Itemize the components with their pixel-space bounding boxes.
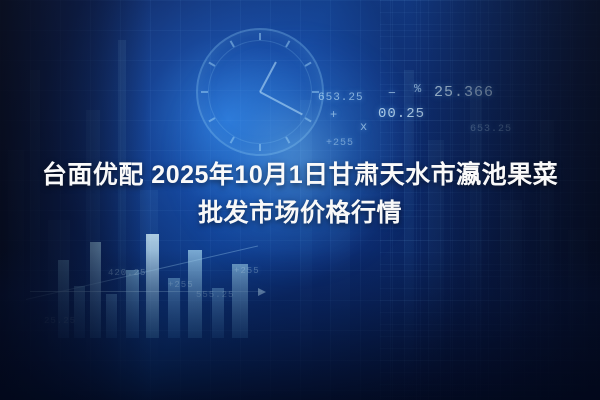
analog-clock-icon <box>196 28 324 156</box>
hud-number: +255 <box>326 138 354 149</box>
banner-image: 653.25 − % 25.366 + 00.25 x +255 653.25 … <box>0 0 600 400</box>
title-line-2: 批发市场价格行情 <box>198 199 402 227</box>
page-title: 台面优配 2025年10月1日甘肃天水市瀛池果菜 批发市场价格行情 <box>18 156 582 232</box>
hud-number: x <box>360 120 368 134</box>
hud-number: 653.25 <box>318 92 364 104</box>
hud-number: + <box>330 108 338 122</box>
vignette-bottom <box>0 250 600 400</box>
title-line-1: 台面优配 2025年10月1日甘肃天水市瀛池果菜 <box>42 161 558 189</box>
hud-number: − <box>388 86 397 101</box>
title-block: 台面优配 2025年10月1日甘肃天水市瀛池果菜 批发市场价格行情 <box>0 156 600 232</box>
